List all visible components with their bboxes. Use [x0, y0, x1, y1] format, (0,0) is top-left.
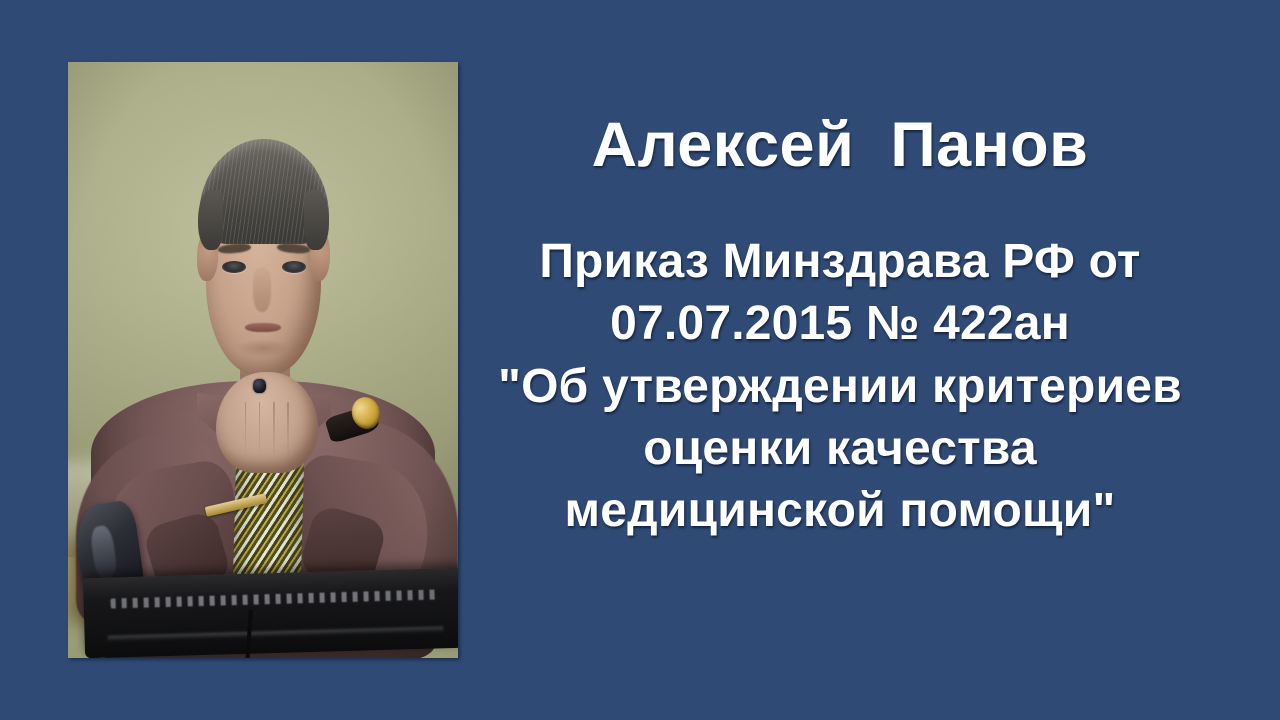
computer-keyboard: [83, 567, 458, 658]
slide-text-block: Алексей Панов Приказ Минздрава РФ от 07.…: [476, 0, 1204, 720]
subject-ring: [253, 379, 266, 393]
subject-eye-left: [222, 261, 246, 273]
slide-subtitle: Приказ Минздрава РФ от 07.07.2015 № 422а…: [498, 231, 1182, 543]
subject-hair-side-right: [304, 190, 329, 250]
portrait-photo-canvas: [68, 62, 458, 658]
subject-nose: [253, 268, 271, 313]
subject-clasped-hands: [216, 372, 317, 473]
subject-chin-shadow: [236, 339, 291, 357]
subject-mouth: [245, 323, 280, 332]
slide-title: Алексей Панов: [592, 112, 1089, 179]
subject-eye-right: [282, 261, 306, 273]
portrait-photo: [68, 62, 458, 658]
subject-hair-side-left: [198, 190, 223, 250]
presentation-slide: Алексей Панов Приказ Минздрава РФ от 07.…: [0, 0, 1280, 720]
